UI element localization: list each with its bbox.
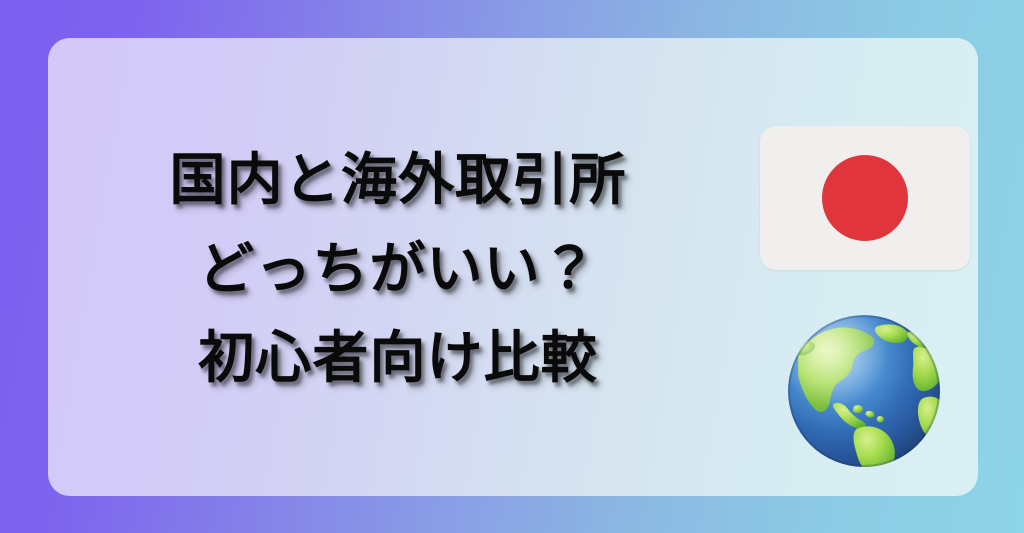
headline-line-1: 国内と海外取引所: [78, 136, 718, 225]
globe-americas-icon: [783, 310, 945, 472]
headline-line-3: 初心者向け比較: [78, 314, 718, 403]
headline-line-2: どっちがいい？: [78, 225, 718, 314]
japan-flag-disc: [822, 155, 908, 241]
thumbnail-canvas: 国内と海外取引所 どっちがいい？ 初心者向け比較: [0, 0, 1024, 533]
headline-block: 国内と海外取引所 どっちがいい？ 初心者向け比較: [78, 136, 718, 403]
content-card: 国内と海外取引所 どっちがいい？ 初心者向け比較: [48, 38, 978, 496]
japan-flag-icon: [760, 126, 970, 270]
